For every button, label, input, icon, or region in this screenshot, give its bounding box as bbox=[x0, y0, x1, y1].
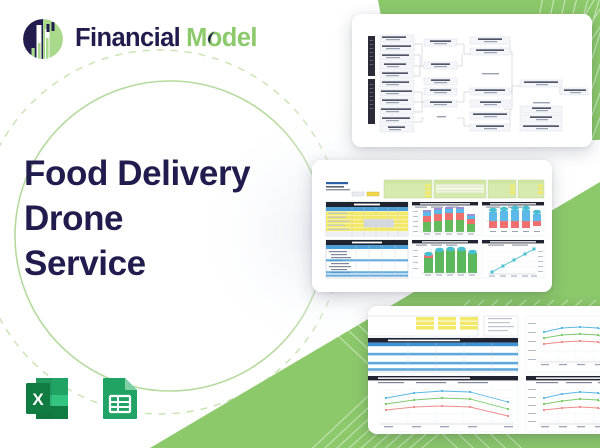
chart-ebitda-comparison bbox=[526, 316, 600, 372]
page-title-line-2: Drone bbox=[24, 197, 324, 242]
dashboard-summary-panels bbox=[384, 180, 544, 198]
chart-investment-payback bbox=[482, 240, 544, 278]
dashboard-core-financials-table bbox=[326, 240, 408, 278]
chart-total-revenue-stacked bbox=[412, 202, 478, 236]
dupont-flowchart-preview bbox=[352, 14, 592, 147]
brand-logo[interactable]: Financial Model bbox=[22, 18, 257, 60]
screenshot-card-reports[interactable] bbox=[368, 306, 600, 434]
financial-dashboard-preview bbox=[312, 160, 552, 292]
reports-assumptions-table bbox=[368, 316, 518, 336]
excel-icon-letter: X bbox=[32, 390, 44, 409]
screenshot-card-dashboard[interactable] bbox=[312, 160, 552, 292]
financial-model-circle-logo bbox=[22, 18, 64, 60]
page-title-line-1: Food Delivery bbox=[24, 152, 324, 197]
chart-net-income-cash-flow bbox=[526, 376, 600, 432]
brand-word-one: Financial bbox=[75, 26, 180, 52]
financial-reports-preview bbox=[368, 306, 600, 434]
group-bar-balance-sheet bbox=[368, 79, 375, 124]
chart-profitability bbox=[482, 202, 544, 236]
leaf-accent-icon bbox=[207, 31, 216, 44]
file-format-icons: X bbox=[22, 372, 146, 424]
screenshot-card-flowchart[interactable] bbox=[352, 14, 592, 147]
brand-wordmark: Financial Model bbox=[75, 26, 257, 52]
reports-statement-table bbox=[368, 338, 518, 372]
chart-revenue-margin bbox=[368, 376, 518, 432]
brand-word-two: Model bbox=[186, 26, 257, 52]
google-sheets-icon[interactable] bbox=[94, 372, 146, 424]
chart-cash-flow bbox=[412, 240, 478, 278]
dashboard-cost-inputs-table bbox=[326, 202, 408, 236]
excel-icon[interactable]: X bbox=[22, 372, 74, 424]
page-title-line-3: Service bbox=[24, 242, 324, 287]
promo-banner: Financial Model Food Delivery Drone Serv… bbox=[0, 0, 600, 448]
page-title: Food Delivery Drone Service bbox=[24, 152, 324, 286]
